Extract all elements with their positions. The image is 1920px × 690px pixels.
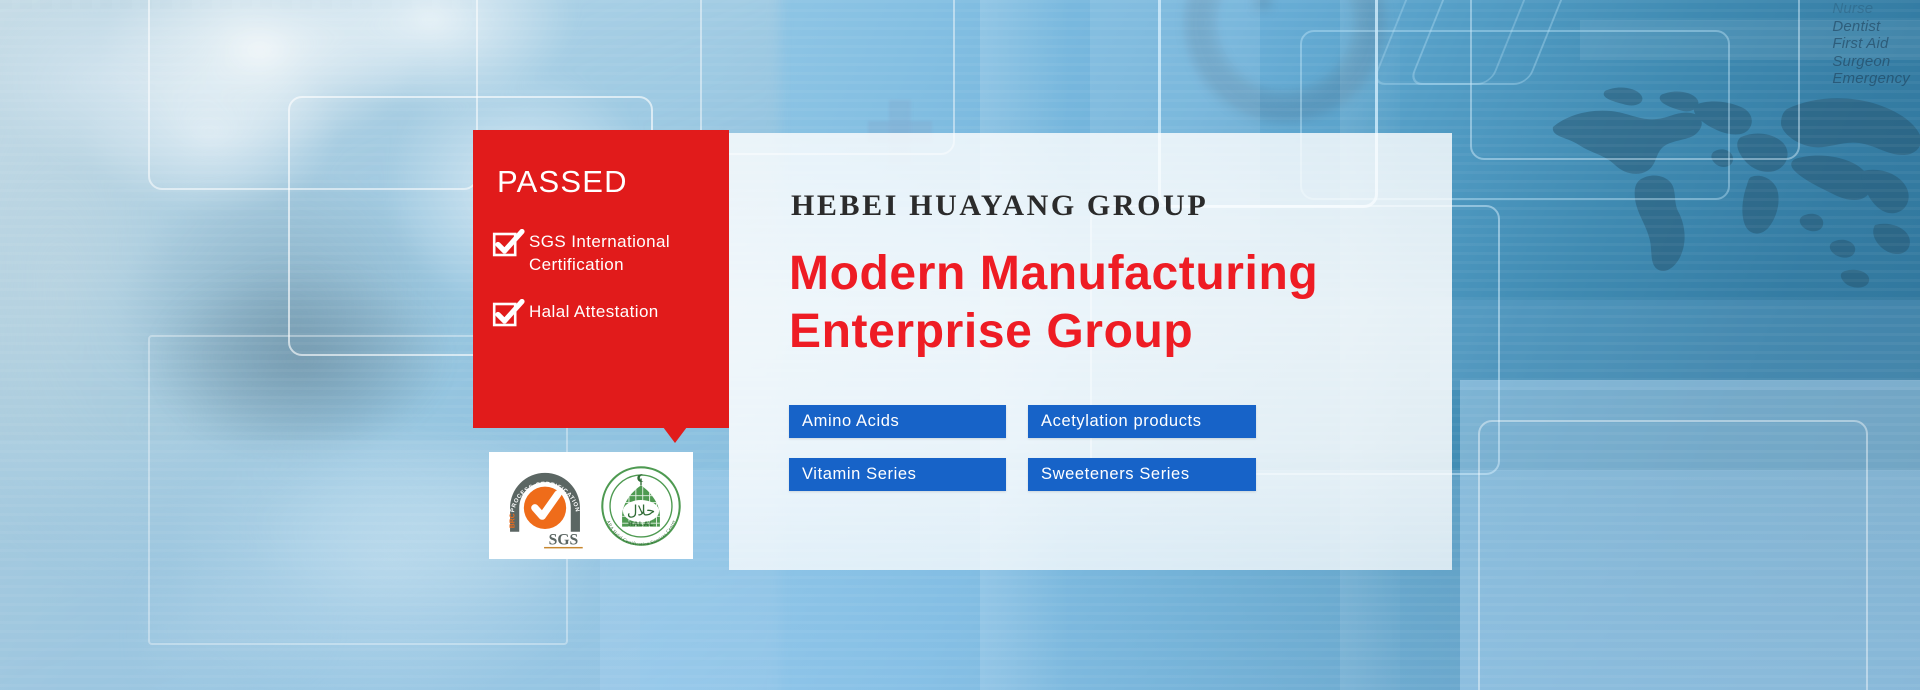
checkbox-checked-icon	[493, 232, 519, 258]
product-button-vitamin-series[interactable]: Vitamin Series	[789, 458, 1006, 491]
passed-badge-title: PASSED	[497, 164, 729, 200]
headline-line-2: Enterprise Group	[789, 303, 1318, 361]
svg-text:BRC: BRC	[509, 513, 516, 528]
word-list-item-surgeon: Surgeon	[1832, 53, 1910, 71]
product-category-list: Amino Acids Acetylation products Vitamin…	[789, 405, 1256, 491]
panel-pointer-triangle	[663, 427, 687, 443]
product-button-amino-acids[interactable]: Amino Acids	[789, 405, 1006, 438]
word-list-item-emergency: Emergency	[1832, 70, 1910, 88]
headline: Modern Manufacturing Enterprise Group	[789, 245, 1318, 361]
background-word-list: Nurse Dentist First Aid Surgeon Emergenc…	[1832, 0, 1910, 88]
halal-logo: حلال HALAL ARA Halal Certification Servi…	[598, 463, 684, 549]
svg-text:SGS: SGS	[548, 531, 578, 548]
svg-text:HALAL: HALAL	[628, 520, 654, 527]
certification-item-label: SGS International Certification	[529, 230, 725, 276]
sgs-logo: PROCESS CERTIFICATION BRC SGS	[499, 460, 591, 552]
headline-line-1: Modern Manufacturing	[789, 247, 1318, 300]
word-list-item-nurse: Nurse	[1832, 0, 1910, 18]
certification-item-sgs: SGS International Certification	[493, 230, 729, 276]
company-name: HEBEI HUAYANG GROUP	[791, 189, 1208, 223]
hero-banner: Nurse Dentist First Aid Surgeon Emergenc…	[0, 0, 1920, 690]
content-panel: HEBEI HUAYANG GROUP Modern Manufacturing…	[729, 133, 1452, 570]
word-list-item-dentist: Dentist	[1832, 18, 1910, 36]
product-button-acetylation-products[interactable]: Acetylation products	[1028, 405, 1256, 438]
certification-panel: PASSED SGS International Certification	[473, 130, 729, 428]
certification-item-halal: Halal Attestation	[493, 300, 729, 328]
svg-text:حلال: حلال	[626, 502, 654, 519]
product-button-sweeteners-series[interactable]: Sweeteners Series	[1028, 458, 1256, 491]
certification-item-label: Halal Attestation	[529, 300, 659, 323]
certification-logo-box: PROCESS CERTIFICATION BRC SGS	[489, 452, 693, 559]
certification-list: SGS International Certification Halal At…	[493, 230, 729, 328]
checkbox-checked-icon	[493, 302, 519, 328]
word-list-item-first-aid: First Aid	[1832, 35, 1910, 53]
